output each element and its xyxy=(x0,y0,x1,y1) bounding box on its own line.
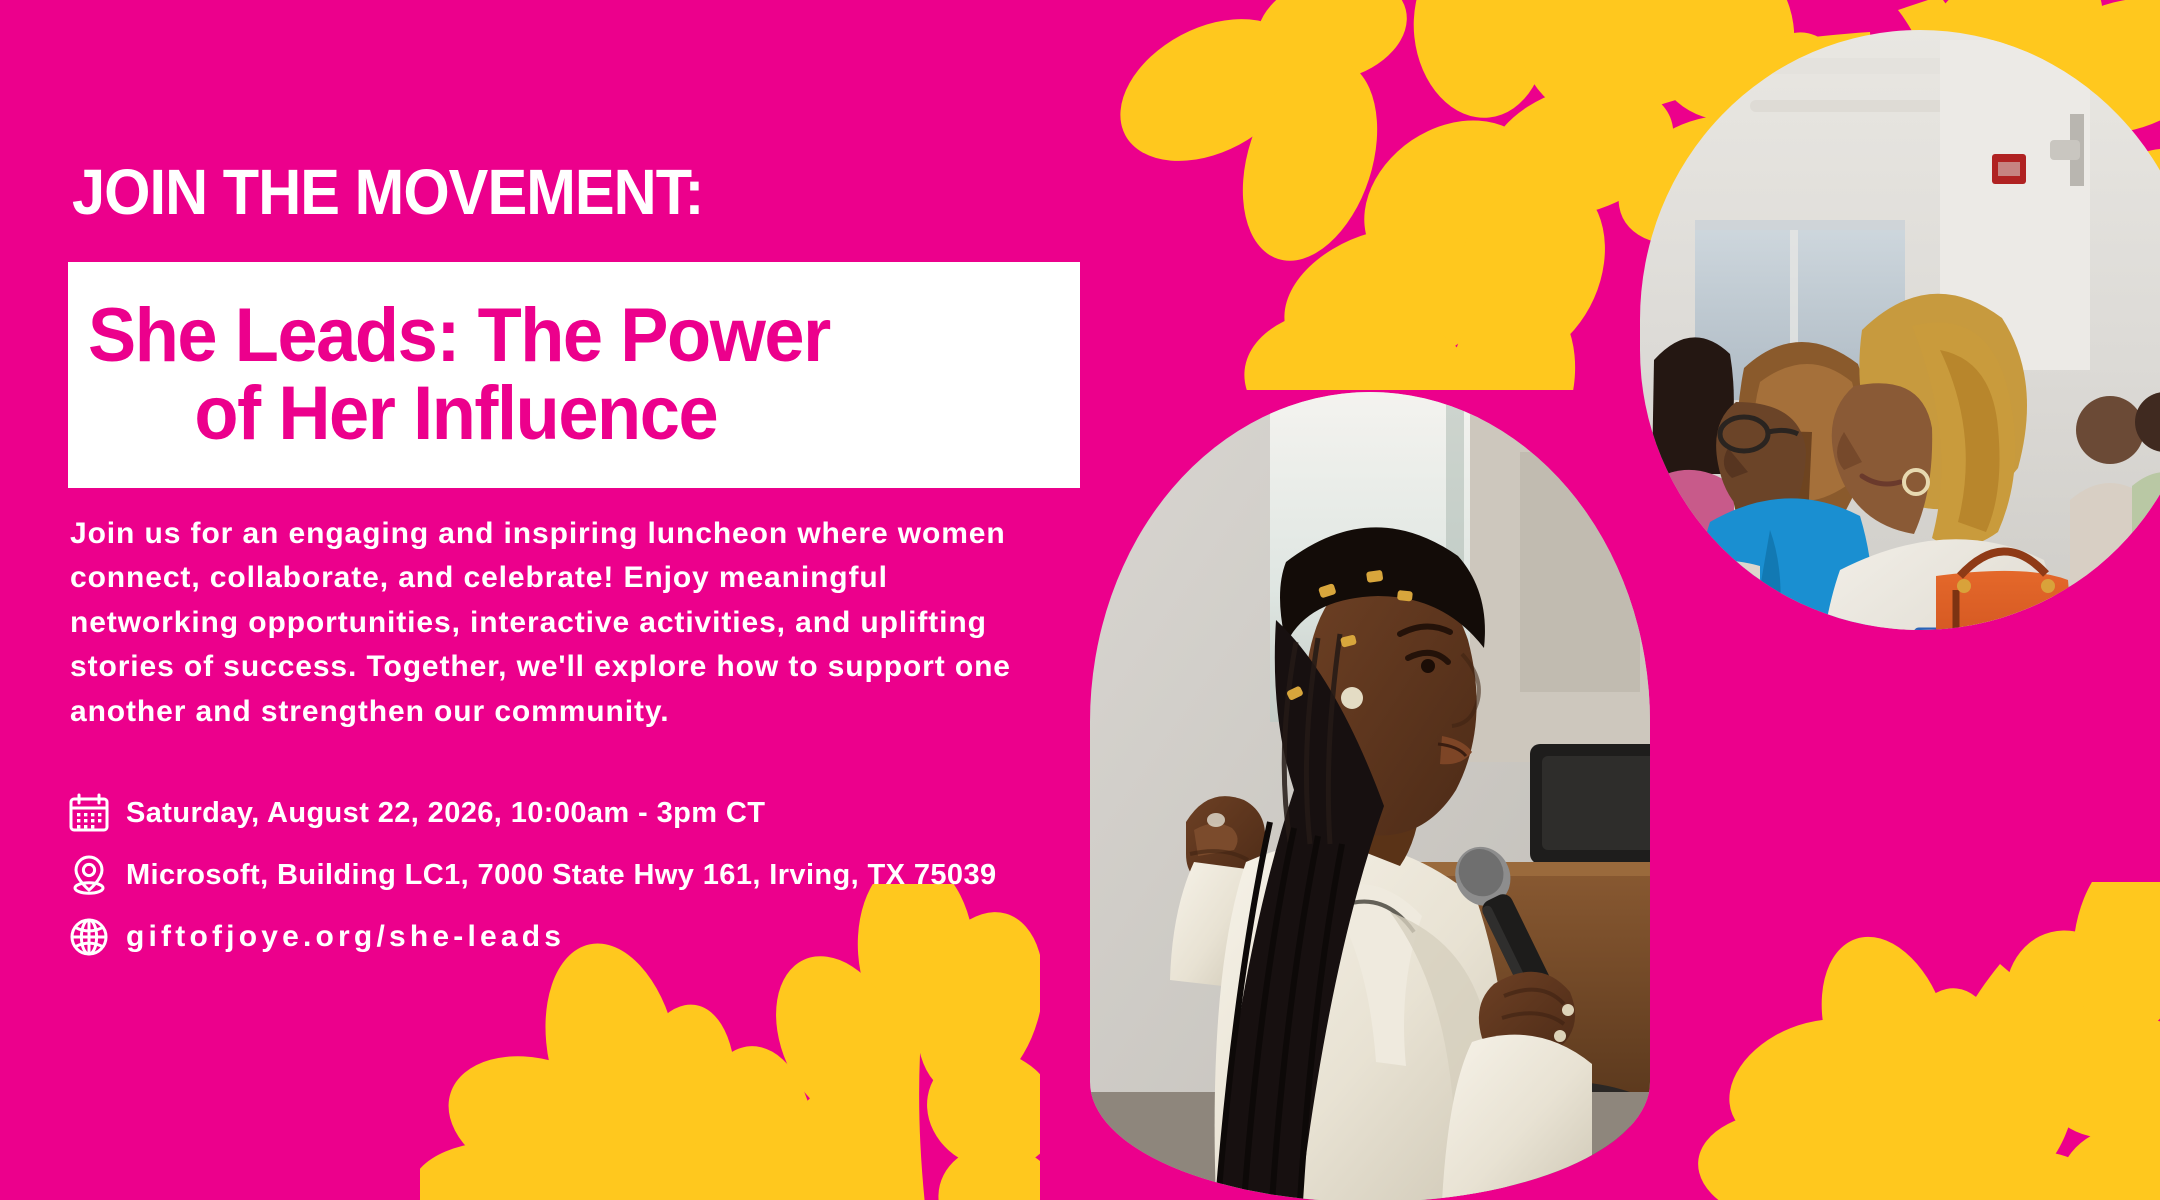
location-pin-icon xyxy=(66,852,112,898)
title-panel: She Leads: The Power of Her Influence xyxy=(68,262,1080,488)
detail-text-date: Saturday, August 22, 2026, 10:00am - 3pm… xyxy=(126,797,765,830)
globe-icon xyxy=(66,914,112,960)
poster-canvas: JOIN THE MOVEMENT: She Leads: The Power … xyxy=(0,0,2160,1200)
detail-text-location: Microsoft, Building LC1, 7000 State Hwy … xyxy=(126,859,997,892)
leaf-frond-bottom-right xyxy=(1670,882,2160,1200)
detail-row-location: Microsoft, Building LC1, 7000 State Hwy … xyxy=(66,852,1076,898)
calendar-icon xyxy=(66,790,112,836)
poster-content: JOIN THE MOVEMENT: She Leads: The Power … xyxy=(0,0,1100,1200)
title-line-1: She Leads: The Power xyxy=(88,297,1030,375)
detail-row-website[interactable]: giftofjoye.org/she-leads xyxy=(66,914,1076,960)
speaker-photo-illustration xyxy=(1090,392,1650,1200)
detail-text-website[interactable]: giftofjoye.org/she-leads xyxy=(126,920,565,954)
event-description: Join us for an engaging and inspiring lu… xyxy=(70,512,1020,734)
audience-photo-illustration xyxy=(1640,30,2160,630)
eyebrow-heading: JOIN THE MOVEMENT: xyxy=(72,160,703,224)
speaker-photo xyxy=(1090,392,1650,1200)
audience-photo xyxy=(1640,30,2160,630)
detail-row-date: Saturday, August 22, 2026, 10:00am - 3pm… xyxy=(66,790,1076,836)
event-details-list: Saturday, August 22, 2026, 10:00am - 3pm… xyxy=(66,790,1076,976)
title-line-2: of Her Influence xyxy=(88,375,1030,453)
